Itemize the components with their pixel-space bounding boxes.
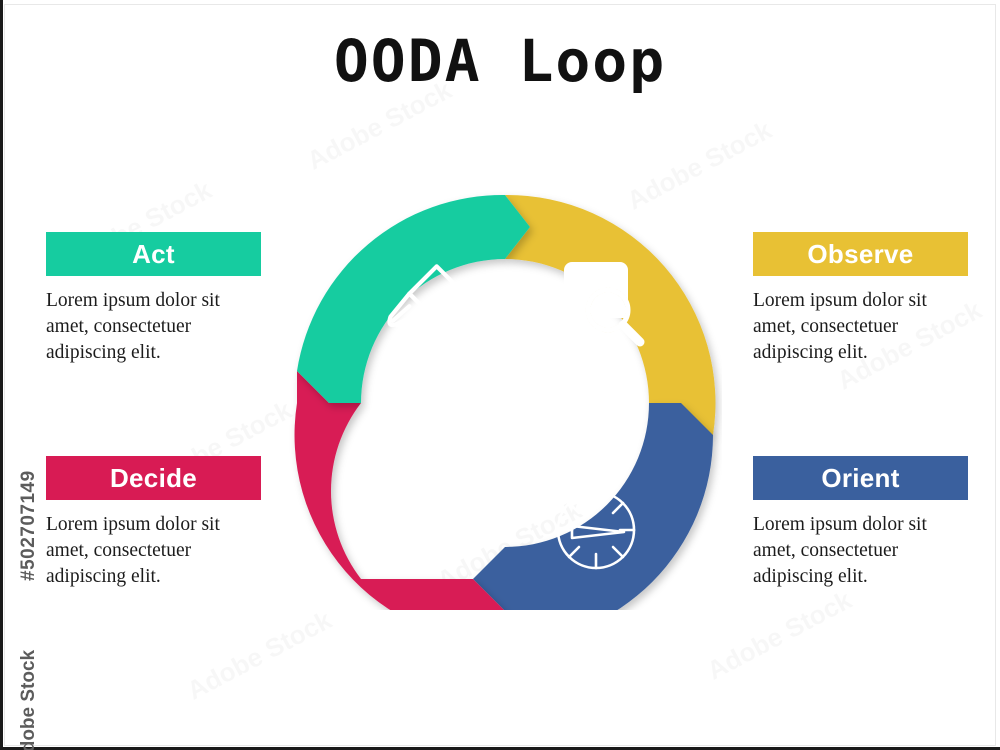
segment-orient[interactable]	[473, 403, 713, 610]
panel-orient: Orient Lorem ipsum dolor sit amet, conse…	[753, 456, 968, 590]
panel-decide: Decide Lorem ipsum dolor sit amet, conse…	[46, 456, 261, 590]
decide-body-text: Lorem ipsum dolor sit amet, consectetuer…	[46, 512, 261, 590]
watermark-tile: Adobe Stock	[182, 605, 337, 707]
infographic-page: Adobe Stock Adobe Stock Adobe Stock Adob…	[0, 0, 1000, 750]
watermark-tile: Adobe Stock	[702, 585, 857, 687]
decide-banner[interactable]: Decide	[46, 456, 261, 500]
watermark-image-id: #502707149	[18, 451, 40, 581]
compass-north-label: N	[591, 467, 602, 484]
fork-arrows-icon	[366, 452, 482, 538]
orient-label: Orient	[821, 463, 899, 494]
page-title: OODA Loop	[0, 30, 1000, 94]
act-banner[interactable]: Act	[46, 232, 261, 276]
ooda-donut-diagram: N	[288, 186, 722, 610]
orient-banner[interactable]: Orient	[753, 456, 968, 500]
observe-banner[interactable]: Observe	[753, 232, 968, 276]
decide-label: Decide	[110, 463, 197, 494]
segment-decide[interactable]	[295, 371, 505, 610]
watermark-brand: Adobe Stock	[18, 636, 40, 750]
observe-label: Observe	[807, 239, 913, 270]
act-body-text: Lorem ipsum dolor sit amet, consectetuer…	[46, 288, 261, 366]
panel-observe: Observe Lorem ipsum dolor sit amet, cons…	[753, 232, 968, 366]
observe-body-text: Lorem ipsum dolor sit amet, consectetuer…	[753, 288, 968, 366]
act-label: Act	[132, 239, 175, 270]
frame-left-edge	[0, 0, 3, 750]
orient-body-text: Lorem ipsum dolor sit amet, consectetuer…	[753, 512, 968, 590]
panel-act: Act Lorem ipsum dolor sit amet, consecte…	[46, 232, 261, 366]
